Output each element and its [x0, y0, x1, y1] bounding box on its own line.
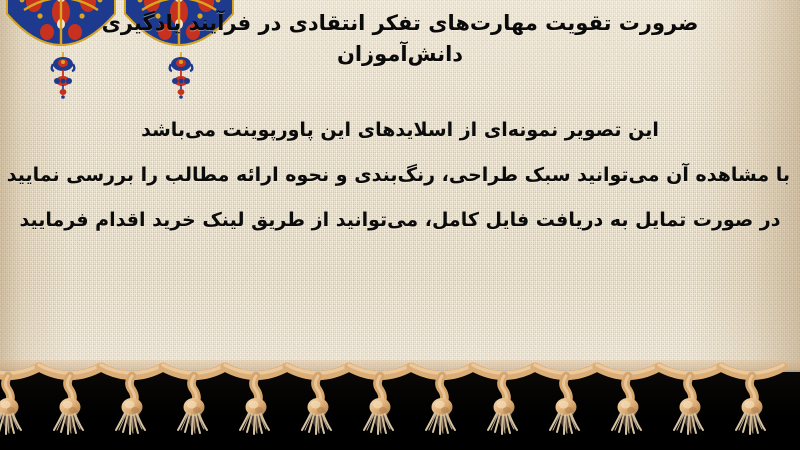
title-line-2: دانش‌آموزان [20, 39, 780, 70]
knotted-tassel-fringe-icon [0, 360, 800, 450]
slide-body: این تصویر نمونه‌ای از اسلایدهای این پاور… [10, 108, 790, 243]
body-line-2: با مشاهده آن می‌توانید سبک طراحی، رنگ‌بن… [10, 153, 790, 198]
slide-title: ضرورت تقویت مهارت‌های تفکر انتقادی در فر… [20, 8, 780, 70]
body-line-1: این تصویر نمونه‌ای از اسلایدهای این پاور… [10, 108, 790, 153]
body-line-3: در صورت تمایل به دریافت فایل کامل، می‌تو… [10, 198, 790, 243]
title-line-1: ضرورت تقویت مهارت‌های تفکر انتقادی در فر… [20, 8, 780, 39]
presentation-slide: ضرورت تقویت مهارت‌های تفکر انتقادی در فر… [0, 0, 800, 450]
